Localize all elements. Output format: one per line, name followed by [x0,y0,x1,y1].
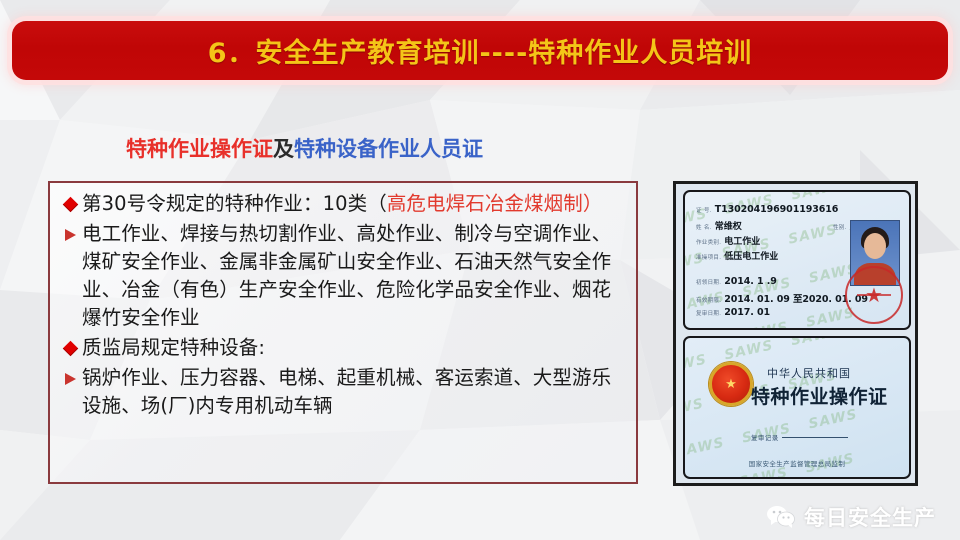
bullet-block-2: 电工作业、焊接与热切割作业、高处作业、制冷与空调作业、煤矿安全作业、金属非金属矿… [58,220,628,332]
certificate-front: SAWS SAWS SAWS SAWS SAWS SAWS SAWS SAWS … [683,190,911,330]
arrow-bullet-icon [58,364,82,388]
subtitle: 特种作业操作证及特种设备作业人员证 [126,133,483,163]
field-label: 复审日期. [696,309,721,317]
subtitle-part-dark: 及 [273,137,294,161]
back-review-label: 复审记录 [751,434,779,442]
emblem-star-glyph: ★ [725,377,737,392]
field-label: 有效期限. [696,296,721,304]
back-issuer: 国家安全生产监督管理总局监制 [685,458,909,468]
back-country-name: 中华人民共和国 [767,365,851,381]
bullet-text-4: 锅炉作业、压力容器、电梯、起重机械、客运索道、大型游乐设施、场(厂)内专用机动车… [82,364,628,420]
field-value: T130204196901193616 [715,204,839,215]
bullet-block-4: 锅炉作业、压力容器、电梯、起重机械、客运索道、大型游乐设施、场(厂)内专用机动车… [58,364,628,420]
field-value: 电工作业 [724,234,760,247]
slide-canvas: 6．安全生产教育培训----特种作业人员培训 特种作业操作证及特种设备作业人员证… [0,0,960,540]
field-label: 姓 名. [696,223,712,231]
field-issue-date: 初领日期. 2014. 1 .9 [696,276,777,287]
bullet-text-2: 电工作业、焊接与热切割作业、高处作业、制冷与空调作业、煤矿安全作业、金属非金属矿… [82,220,628,332]
diamond-bullet-icon [58,334,82,358]
field-value: 2017. 01 [724,307,770,318]
field-valid-period: 有效期限. 2014. 01. 09 至2020. 01. 09 [696,291,868,305]
title-banner: 6．安全生产教育培训----特种作业人员培训 [12,21,948,80]
wechat-icon [766,505,796,529]
back-cert-title: 特种作业操作证 [751,382,888,409]
page-title: 6．安全生产教育培训----特种作业人员培训 [208,31,753,70]
field-category: 作业类别. 电工作业 [696,234,760,247]
certificate-image: SAWS SAWS SAWS SAWS SAWS SAWS SAWS SAWS … [673,181,918,486]
field-label: 准操项目. [696,253,721,261]
bullet-1-highlight: 高危电焊石冶金煤烟制 [387,192,583,215]
back-review-record: 复审记录 [751,432,848,442]
subtitle-part-red: 特种作业操作证 [126,137,273,161]
content-box: 第30号令规定的特种作业：10类（高危电焊石冶金煤烟制） 电工作业、焊接与热切割… [48,181,638,484]
bullet-1-tail: ） [583,192,603,215]
diamond-bullet-icon [58,190,82,214]
field-label: 证 号. [696,206,712,214]
field-label: 初领日期. [696,278,721,286]
field-cert-no: 证 号. T130204196901193616 [696,204,838,215]
field-value: 常维权 [715,219,742,232]
bullet-1-lead: 第30号令规定的特种作业：10类（ [82,192,387,215]
bullet-block-3: 质监局规定特种设备: [58,334,628,362]
certificate-back: SAWS SAWS SAWS SAWS SAWS SAWS SAWS SAWS … [683,336,911,479]
subtitle-part-blue: 特种设备作业人员证 [294,137,483,161]
bullet-text-3: 质监局规定特种设备: [82,334,628,362]
bullet-text-1: 第30号令规定的特种作业：10类（高危电焊石冶金煤烟制） [82,190,628,218]
national-emblem-icon: ★ [709,362,753,406]
arrow-bullet-icon [58,220,82,244]
field-name: 姓 名. 常维权 [696,219,742,232]
footer-brand-text: 每日安全生产 [804,502,936,532]
field-label: 性别. [833,223,847,231]
field-value: 低压电工作业 [724,249,778,262]
official-stamp-icon: ★ [845,266,903,324]
field-value: 2014. 1 .9 [724,276,777,287]
field-review-date: 复审日期. 2017. 01 [696,307,770,318]
field-label: 作业类别. [696,238,721,246]
field-item: 准操项目. 低压电工作业 [696,249,778,262]
footer-brand: 每日安全生产 [766,502,936,532]
bullet-block-1: 第30号令规定的特种作业：10类（高危电焊石冶金煤烟制） [58,190,628,218]
